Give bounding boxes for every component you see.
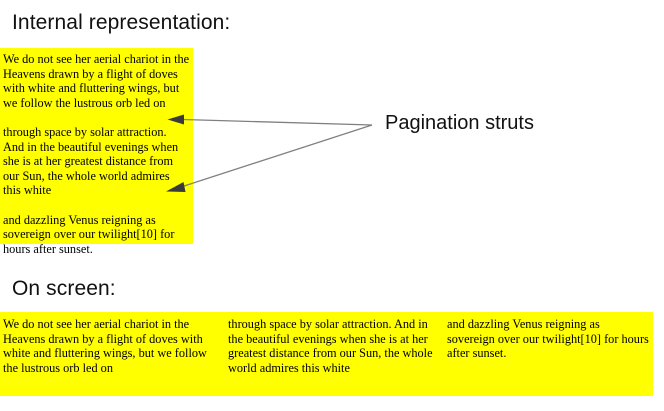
- on-screen-heading: On screen:: [12, 277, 116, 301]
- internal-paragraph-3: and dazzling Venus reigning as sovereign…: [3, 213, 190, 257]
- slide-canvas: Internal representation: We do not see h…: [0, 0, 664, 411]
- arrow-line-lower: [181, 125, 372, 187]
- internal-paragraph-2: through space by solar attraction. And i…: [3, 125, 190, 198]
- pagination-struts-label: Pagination struts: [385, 112, 534, 135]
- internal-representation-text-block: We do not see her aerial chariot in the …: [0, 48, 193, 244]
- on-screen-column-3: and dazzling Venus reigning as sovereign…: [447, 317, 650, 361]
- internal-paragraph-1: We do not see her aerial chariot in the …: [3, 52, 190, 110]
- on-screen-column-2: through space by solar attraction. And i…: [228, 317, 440, 375]
- arrow-line-upper: [183, 120, 372, 126]
- internal-representation-heading: Internal representation:: [12, 11, 230, 35]
- on-screen-text-band: We do not see her aerial chariot in the …: [0, 312, 653, 396]
- on-screen-column-1: We do not see her aerial chariot in the …: [3, 317, 221, 375]
